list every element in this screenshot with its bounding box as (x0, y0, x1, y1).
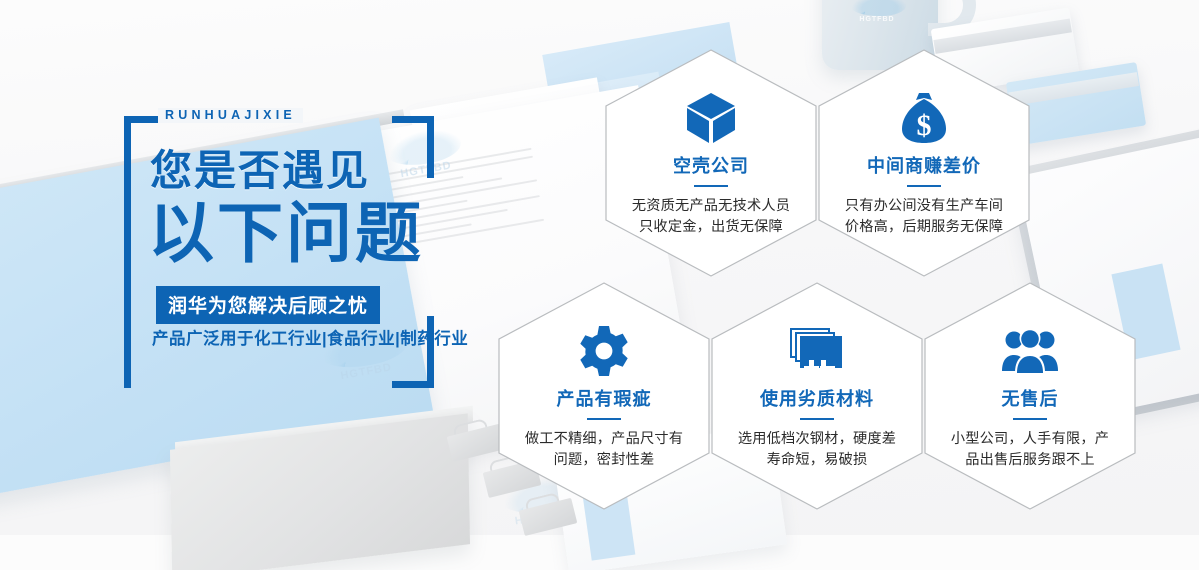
hex-card-poor-material[interactable]: 使用劣质材料 选用低档次钢材，硬度差 寿命短，易破损 (710, 281, 924, 511)
logo-fan-shape (848, 0, 906, 16)
hex-underline (907, 185, 941, 187)
hex-underline (587, 418, 621, 420)
stacked-plates-icon (789, 325, 845, 377)
hex-content: 使用劣质材料 选用低档次钢材，硬度差 寿命短，易破损 (710, 281, 924, 511)
cube-icon (685, 92, 737, 144)
money-bag-icon: $ (899, 92, 949, 144)
headline-block: RUNHUAJIXIE 您是否遇见 以下问题 润华为您解决后顾之忧 产品广泛用于… (124, 116, 434, 388)
hex-description-line-2: 寿命短，易破损 (724, 450, 910, 471)
mug-logo-watermark: HGTFBD (848, 0, 906, 32)
hex-description-line-1: 做工不精细，产品尺寸有 (511, 429, 697, 450)
brand-latin-name: RUNHUAJIXIE (158, 108, 303, 123)
frame-bottom-right-bar (392, 381, 434, 388)
hex-description-line-2: 只收定金，出货无保障 (618, 217, 804, 238)
headline-line-2: 以下问题 (148, 200, 424, 266)
hex-description-line-2: 价格高，后期服务无保障 (831, 217, 1017, 238)
hex-description-line-2: 品出售后服务跟不上 (937, 450, 1123, 471)
hex-card-shell-company[interactable]: 空壳公司 无资质无产品无技术人员 只收定金，出货无保障 (604, 48, 818, 278)
hex-description-line-1: 只有办公间没有生产车间 (831, 196, 1017, 217)
hex-underline (694, 185, 728, 187)
gear-icon (578, 325, 630, 377)
hex-content: 空壳公司 无资质无产品无技术人员 只收定金，出货无保障 (604, 48, 818, 278)
hex-title: 中间商赚差价 (867, 152, 981, 178)
hex-content: $ 中间商赚差价 只有办公间没有生产车间 价格高，后期服务无保障 (817, 48, 1031, 278)
hex-card-defective-product[interactable]: 产品有瑕疵 做工不精细，产品尺寸有 问题，密封性差 (497, 281, 711, 511)
hex-underline (800, 418, 834, 420)
hex-description: 小型公司，人手有限，产 品出售后服务跟不上 (937, 429, 1123, 470)
hex-content: 产品有瑕疵 做工不精细，产品尺寸有 问题，密封性差 (497, 281, 711, 511)
hex-title: 使用劣质材料 (760, 385, 874, 411)
frame-left-bar (124, 116, 131, 388)
hex-description-line-1: 无资质无产品无技术人员 (618, 196, 804, 217)
hex-card-no-aftersales[interactable]: 无售后 小型公司，人手有限，产 品出售后服务跟不上 (923, 281, 1137, 511)
hex-description: 选用低档次钢材，硬度差 寿命短，易破损 (724, 429, 910, 470)
hex-title: 无售后 (1002, 385, 1059, 411)
svg-text:$: $ (917, 109, 932, 142)
hex-description: 无资质无产品无技术人员 只收定金，出货无保障 (618, 196, 804, 237)
hex-description: 只有办公间没有生产车间 价格高，后期服务无保障 (831, 196, 1017, 237)
hex-card-middleman[interactable]: $ 中间商赚差价 只有办公间没有生产车间 价格高，后期服务无保障 (817, 48, 1031, 278)
hex-underline (1013, 418, 1047, 420)
hex-description-line-1: 小型公司，人手有限，产 (937, 429, 1123, 450)
headline-line-1: 您是否遇见 (150, 150, 370, 192)
logo-watermark-text: HGTFBD (848, 16, 906, 23)
hex-content: 无售后 小型公司，人手有限，产 品出售后服务跟不上 (923, 281, 1137, 511)
hex-title: 空壳公司 (673, 152, 749, 178)
headline-industries: 产品广泛用于化工行业|食品行业|制药行业 (152, 325, 468, 349)
frame-right-top-bar (427, 116, 434, 178)
hex-description: 做工不精细，产品尺寸有 问题，密封性差 (511, 429, 697, 470)
banner-stage: HGTFBD HGTFBD HGTFBD HGTFBD HGTFBD (0, 0, 1199, 570)
hex-description-line-2: 问题，密封性差 (511, 450, 697, 471)
hex-description-line-1: 选用低档次钢材，硬度差 (724, 429, 910, 450)
headline-sub-bar: 润华为您解决后顾之忧 (156, 286, 380, 324)
people-group-icon (1001, 325, 1059, 377)
hex-title: 产品有瑕疵 (557, 385, 652, 411)
